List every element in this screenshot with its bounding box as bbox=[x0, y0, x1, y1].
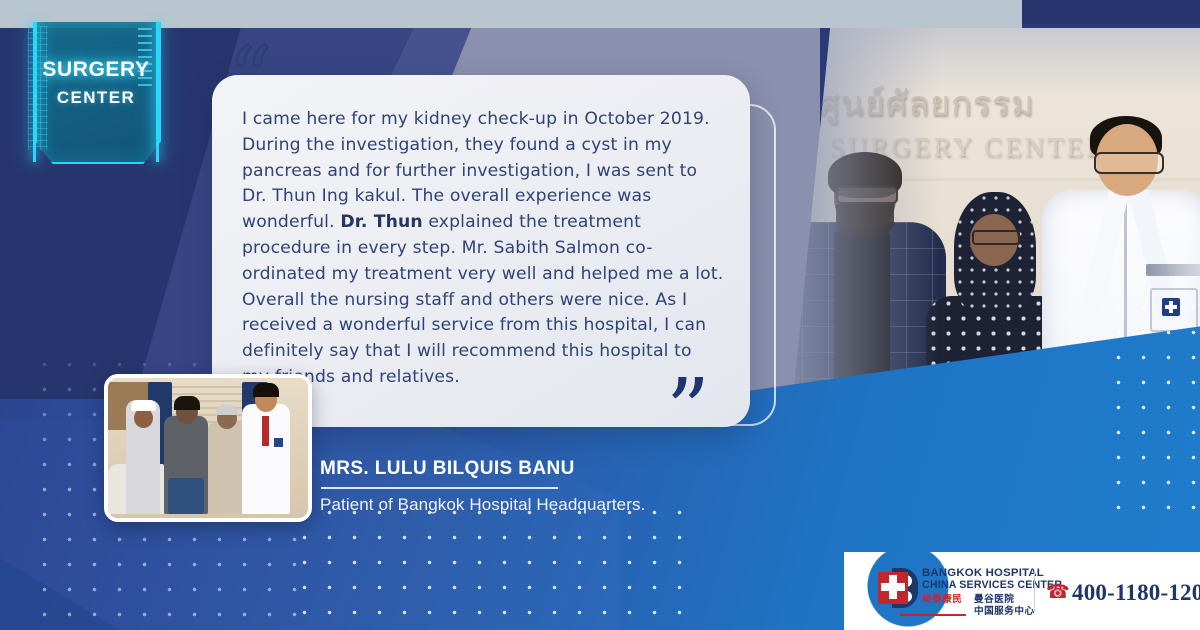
inset-person-son bbox=[164, 416, 208, 514]
phone-icon: ☎ bbox=[1046, 583, 1066, 603]
photo-top-fade bbox=[770, 28, 1200, 98]
logo-cross-icon bbox=[878, 568, 918, 608]
quote-doctor-name: Dr. Thun bbox=[340, 212, 422, 232]
logo-chinese-red: 尚泰康民 bbox=[922, 591, 962, 605]
quote-open-icon: “ bbox=[228, 36, 272, 122]
phone-number[interactable]: 400-1180-120 bbox=[1072, 580, 1200, 606]
top-bar-navy bbox=[1022, 0, 1200, 24]
inset-person-nurse bbox=[126, 400, 160, 514]
logo-line-2: CHINA SERVICES CENTER bbox=[922, 579, 1062, 591]
quote-text: I came here for my kidney check-up in Oc… bbox=[242, 107, 724, 391]
quote-part-2: explained the treatment procedure in eve… bbox=[242, 212, 723, 387]
badge-title-line2: CENTER bbox=[35, 88, 157, 108]
quote-close-icon: ” bbox=[666, 368, 710, 454]
footer-divider bbox=[1034, 570, 1035, 612]
inset-photo bbox=[104, 374, 312, 522]
patient-name: MRS. LULU BILQUIS BANU bbox=[320, 458, 575, 480]
logo-line-1: BANGKOK HOSPITAL bbox=[922, 567, 1044, 579]
badge-title-line1: SURGERY bbox=[35, 58, 157, 82]
inset-person-doctor bbox=[242, 404, 290, 514]
patient-subtitle: Patient of Bangkok Hospital Headquarters… bbox=[320, 495, 645, 515]
bangkok-hospital-logo[interactable]: BANGKOK HOSPITAL CHINA SERVICES CENTER 尚… bbox=[878, 566, 1024, 614]
testimonial-banner: ศูนย์ศัลยกรรม SURGERY CENTER bbox=[0, 0, 1200, 630]
attribution-divider bbox=[321, 487, 558, 489]
logo-underline bbox=[900, 614, 966, 616]
logo-chinese-navy-2: 中国服务中心 bbox=[974, 603, 1035, 617]
inset-person-patient bbox=[208, 422, 244, 514]
